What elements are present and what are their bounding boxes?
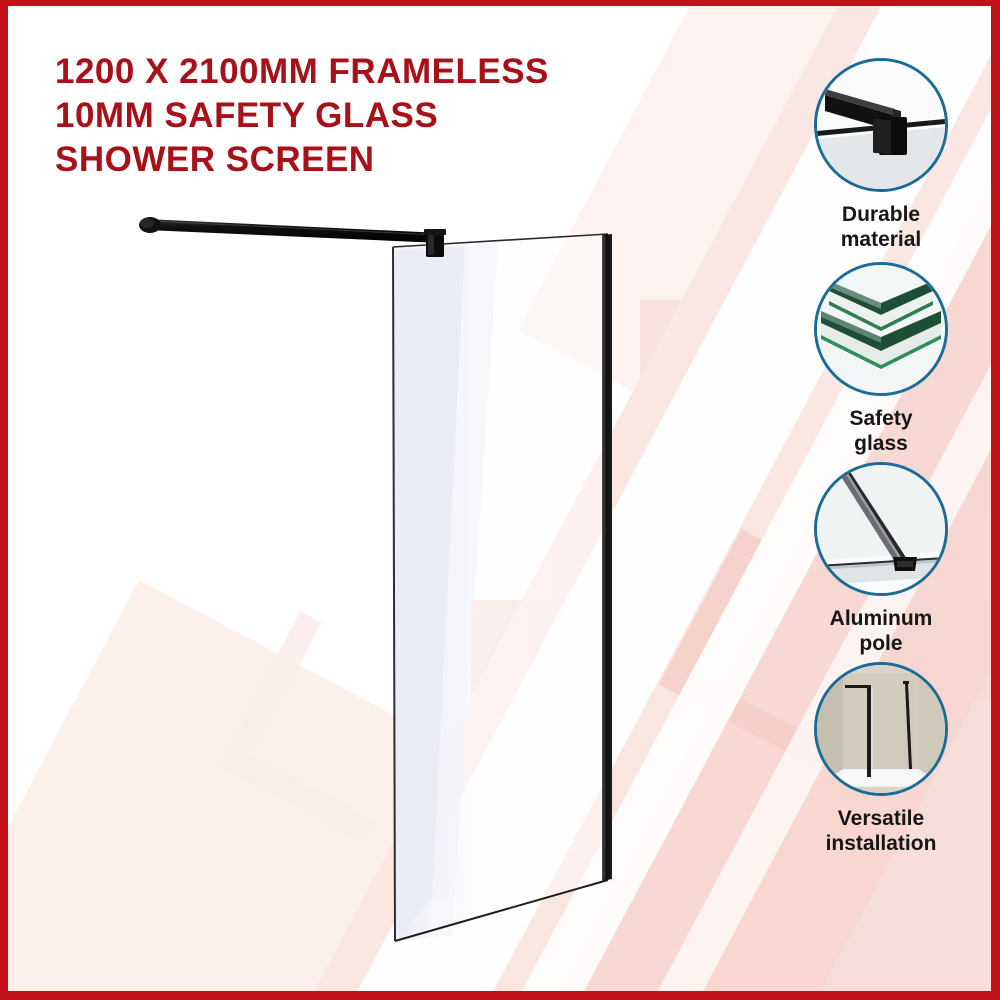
aluminum-pole-icon: [814, 462, 948, 596]
feature-label-aluminum-pole: Aluminum pole: [776, 606, 986, 656]
shower-room-install-icon: [814, 662, 948, 796]
feature-label-durable-material: Durable material: [776, 202, 986, 252]
feature-aluminum-pole: Aluminum pole: [776, 462, 986, 656]
feature-durable-material: Durable material: [776, 58, 986, 252]
product-title-line-3: Shower Screen: [55, 138, 675, 182]
product-marketing-image: 1200 x 2100mm Frameless 10mm Safety Glas…: [0, 0, 1000, 1000]
frame-border-bottom: [0, 991, 1000, 1000]
feature-label-safety-glass: Safety glass: [776, 406, 986, 456]
feature-list: Durable material: [776, 58, 986, 862]
product-title: 1200 x 2100mm Frameless 10mm Safety Glas…: [55, 50, 675, 182]
frame-border-left: [0, 0, 8, 1000]
frame-border-top: [0, 0, 1000, 6]
product-title-line-2: 10mm Safety Glass: [55, 94, 675, 138]
product-title-line-1: 1200 x 2100mm Frameless: [55, 50, 675, 94]
feature-versatile-installation: Versatile installation: [776, 662, 986, 856]
frame-border-right: [991, 0, 1000, 1000]
bracket-clamp-icon: [814, 58, 948, 192]
laminated-glass-layers-icon: [814, 262, 948, 396]
feature-label-versatile-installation: Versatile installation: [776, 806, 986, 856]
feature-safety-glass: Safety glass: [776, 262, 986, 456]
